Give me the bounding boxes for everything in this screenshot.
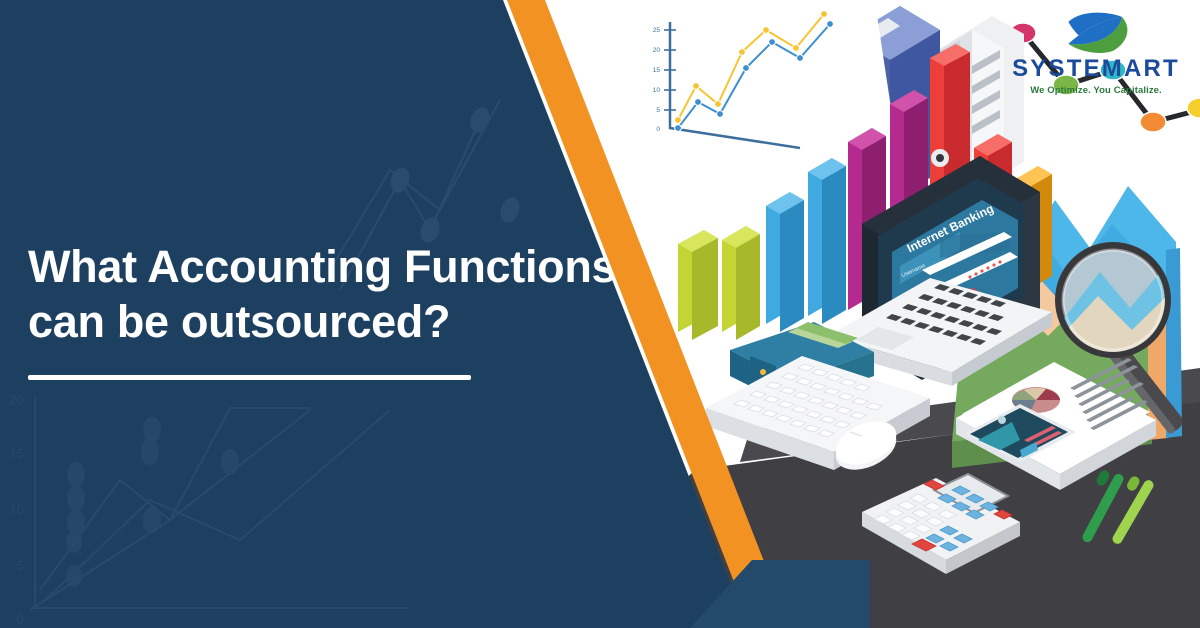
svg-text:10: 10 (653, 87, 661, 94)
promo-banner: 25 20 15 10 5 0 (0, 0, 1200, 628)
svg-text:20: 20 (653, 47, 661, 54)
logo-wordmark: SYSTEMART (1008, 57, 1184, 81)
page-title-line1: What Accounting Functions (28, 240, 628, 295)
page-title-line2: can be outsourced? (28, 295, 628, 350)
systemart-swoosh-icon (1053, 8, 1139, 56)
logo[interactable]: SYSTEMART We Optimize. You Capitalize. (1008, 8, 1184, 96)
logo-tagline: We Optimize. You Capitalize. (1008, 85, 1184, 96)
svg-text:15: 15 (653, 67, 661, 74)
svg-text:0: 0 (656, 126, 660, 133)
svg-text:5: 5 (656, 107, 660, 114)
page-title: What Accounting Functions can be outsour… (28, 240, 628, 350)
title-underline (28, 375, 471, 380)
svg-text:25: 25 (653, 27, 661, 34)
